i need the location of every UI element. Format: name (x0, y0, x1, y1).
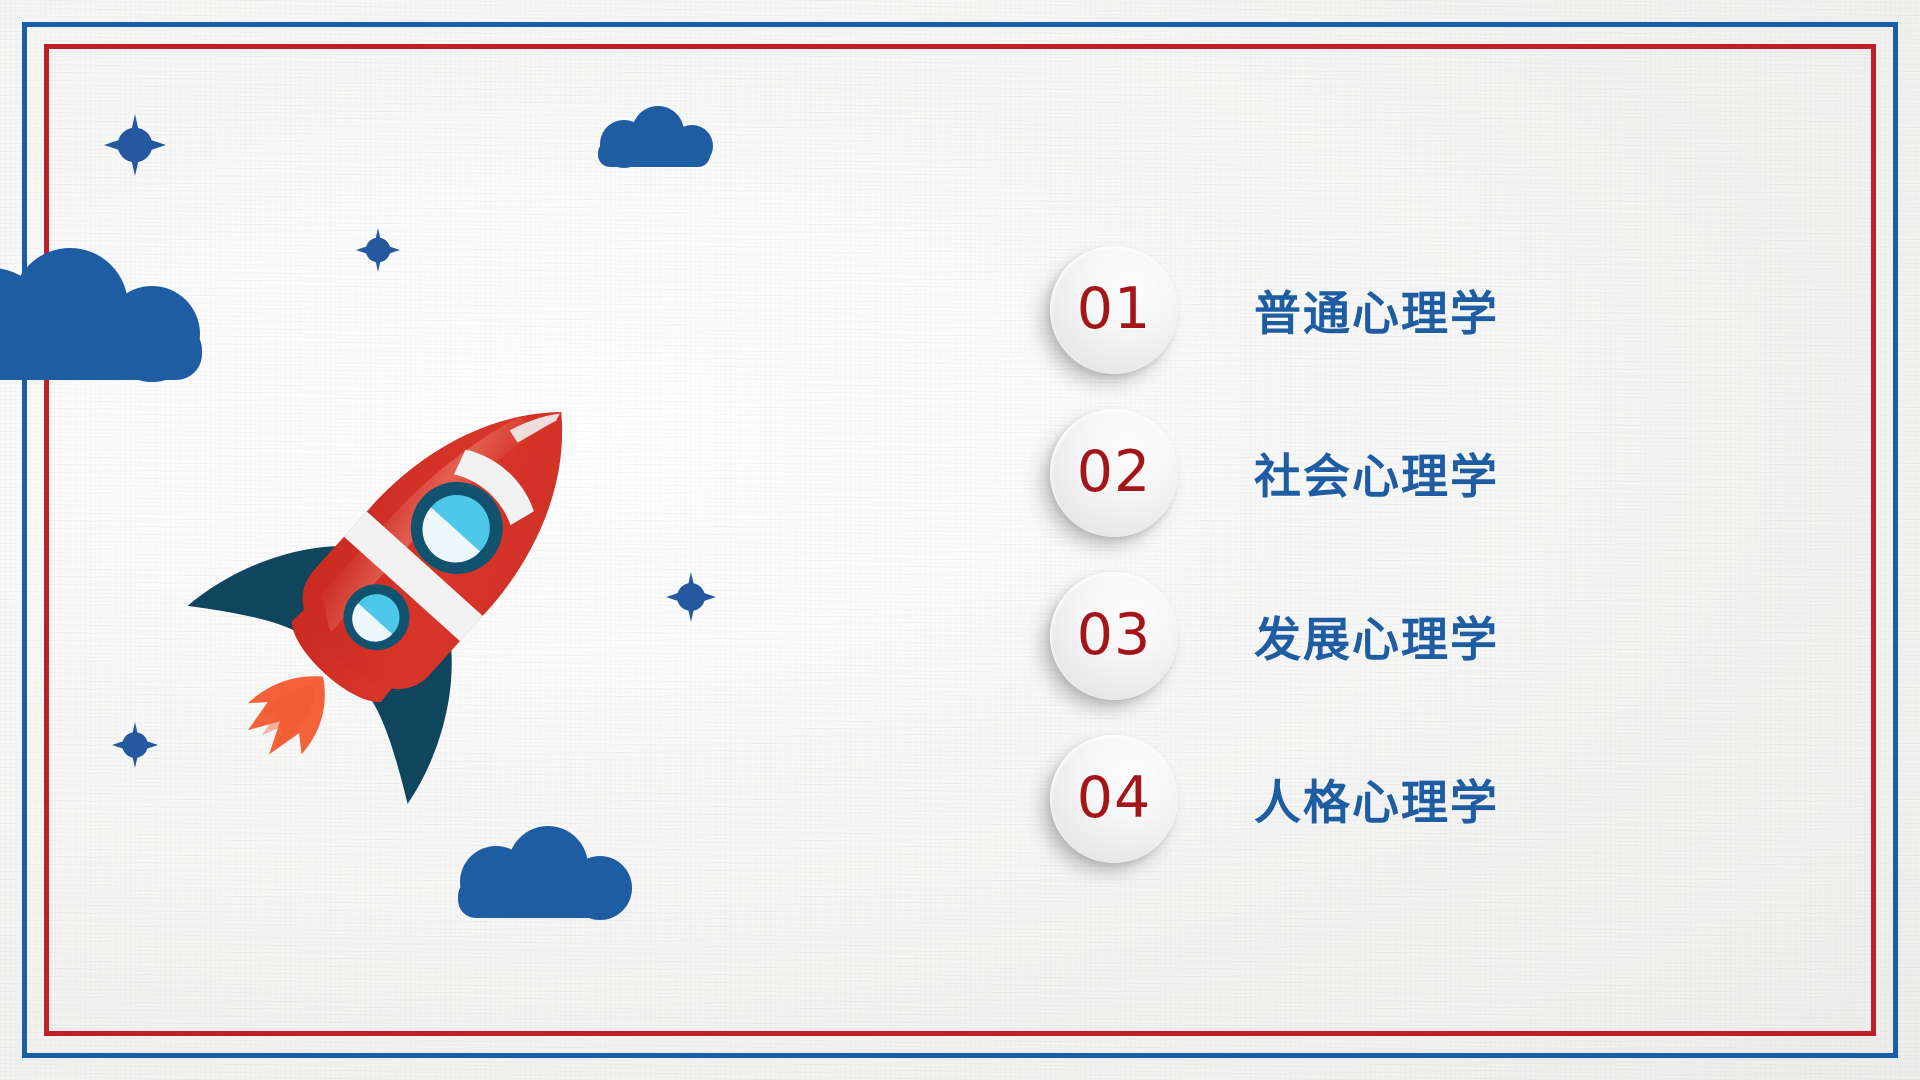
sparkle-icon-2 (356, 228, 400, 272)
agenda-item-label-01: 普通心理学 (1254, 275, 1499, 344)
number-badge-02[interactable]: 02 (1050, 409, 1178, 537)
agenda-item-04[interactable]: 04 人格心理学 (1050, 717, 1750, 880)
agenda-item-02[interactable]: 02 社会心理学 (1050, 391, 1750, 554)
rocket-illustration (150, 330, 670, 830)
sparkle-icon-1 (104, 114, 166, 176)
presentation-slide: 01 普通心理学 02 社会心理学 03 发展心理学 04 人格心理学 (0, 0, 1920, 1080)
number-badge-04[interactable]: 04 (1050, 735, 1178, 863)
agenda-item-03[interactable]: 03 发展心理学 (1050, 554, 1750, 717)
number-badge-03[interactable]: 03 (1050, 572, 1178, 700)
badge-number-text: 04 (1077, 770, 1152, 827)
cloud-bottom (430, 826, 645, 926)
cloud-top-small (580, 108, 720, 174)
agenda-item-label-03: 发展心理学 (1254, 601, 1499, 670)
badge-number-text: 02 (1077, 444, 1152, 501)
number-badge-01[interactable]: 01 (1050, 246, 1178, 374)
agenda-item-label-02: 社会心理学 (1254, 438, 1499, 507)
agenda-item-label-04: 人格心理学 (1254, 764, 1499, 833)
agenda-list: 01 普通心理学 02 社会心理学 03 发展心理学 04 人格心理学 (1050, 228, 1750, 880)
agenda-item-01[interactable]: 01 普通心理学 (1050, 228, 1750, 391)
badge-number-text: 03 (1077, 607, 1152, 664)
badge-number-text: 01 (1077, 281, 1152, 338)
sparkle-icon-3 (666, 572, 716, 622)
